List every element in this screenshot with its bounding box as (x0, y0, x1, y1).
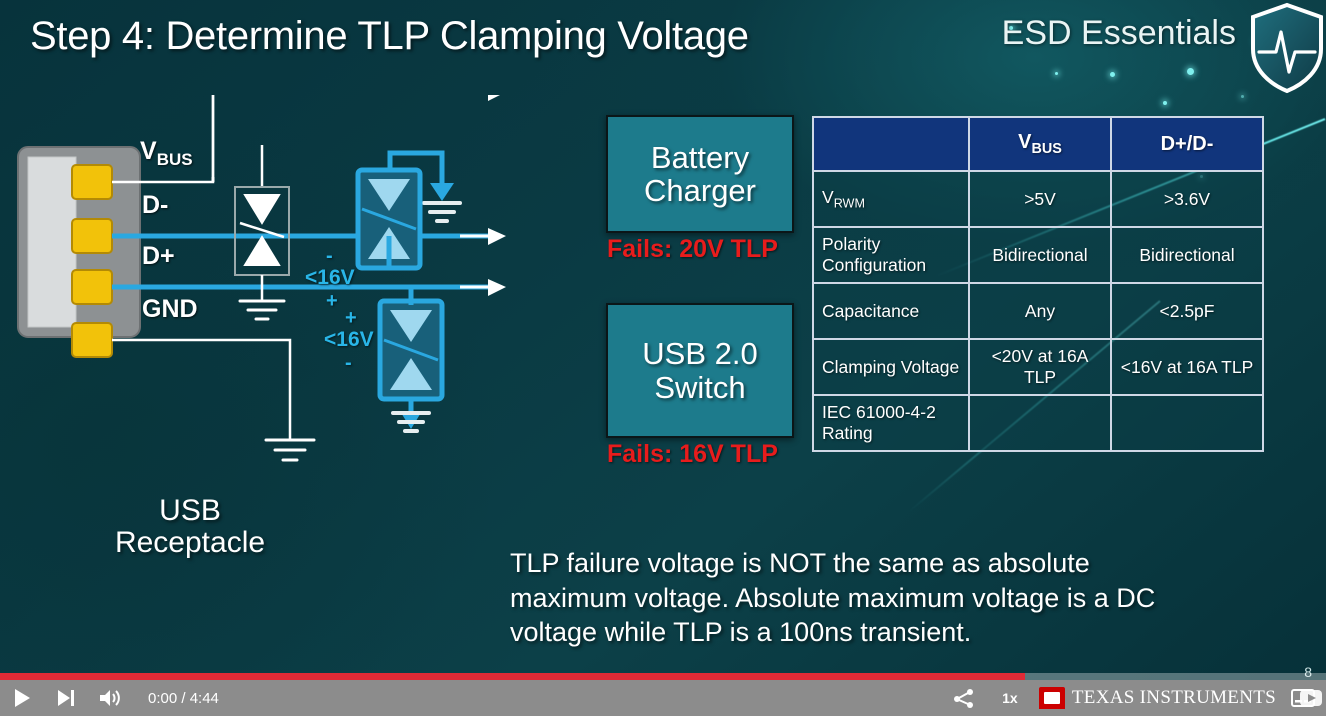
pin-label-dminus: D- (142, 191, 168, 220)
table-col-header-dpdm: D+/D- (1111, 117, 1263, 171)
tvs-diode-grey (235, 145, 289, 319)
tvs-lower-sign-top: + (345, 307, 357, 330)
table-cell-dpdm: <2.5pF (1111, 283, 1263, 339)
background-dot (1187, 68, 1194, 75)
ti-logo: TEXAS INSTRUMENTS (1039, 680, 1276, 716)
table-row: Clamping Voltage <20V at 16A TLP <16V at… (813, 339, 1263, 395)
block-line-1: USB 2.0 (642, 337, 757, 370)
tvs-diode-blue-upper (358, 153, 460, 268)
table-row-header-clamping: Clamping Voltage (813, 339, 969, 395)
table-row-header-polarity: Polarity Configuration (813, 227, 969, 283)
page-title: Step 4: Determine TLP Clamping Voltage (30, 14, 749, 59)
play-icon[interactable] (0, 680, 44, 716)
usb-caption-line-2: Receptacle (95, 527, 285, 559)
table-row: Capacitance Any <2.5pF (813, 283, 1263, 339)
volume-icon[interactable] (88, 680, 132, 716)
background-dot (1110, 72, 1115, 77)
ti-logo-mark (1039, 687, 1065, 709)
background-dot (1163, 101, 1167, 105)
table-col-header-blank (813, 117, 969, 171)
tvs-diode-blue-lower (380, 287, 442, 431)
youtube-watermark-icon[interactable] (1298, 680, 1324, 716)
usb-caption-line-1: USB (95, 495, 285, 527)
block-line-2: Charger (644, 174, 756, 207)
table-row-header-vrwm: VRWM (813, 171, 969, 227)
shield-pulse-icon (1248, 2, 1326, 94)
playback-speed-button[interactable]: 1x (987, 680, 1033, 716)
background-dot (1241, 95, 1244, 98)
tvs-upper-value: <16V (305, 266, 355, 290)
table-cell-vbus: <20V at 16A TLP (969, 339, 1111, 395)
pin-label-dplus: D+ (142, 242, 175, 271)
tvs-upper-sign-bottom: + (326, 290, 338, 313)
table-cell-vbus (969, 395, 1111, 451)
pin-label-vbus: VBUS (140, 137, 193, 170)
share-icon[interactable] (941, 680, 987, 716)
fail-text-battery-charger: Fails: 20V TLP (607, 235, 778, 264)
tvs-lower-value: <16V (324, 328, 374, 352)
block-line-1: Battery (644, 141, 756, 174)
background-dot (1055, 72, 1058, 75)
ti-logo-text: TEXAS INSTRUMENTS (1072, 687, 1276, 709)
table-row: Polarity Configuration Bidirectional Bid… (813, 227, 1263, 283)
brand-label: ESD Essentials (1002, 14, 1236, 53)
video-progress-bar[interactable] (0, 673, 1326, 680)
table-cell-dpdm: >3.6V (1111, 171, 1263, 227)
table-row-header-iec: IEC 61000-4-2 Rating (813, 395, 969, 451)
table-cell-dpdm (1111, 395, 1263, 451)
slide-caption: TLP failure voltage is NOT the same as a… (510, 546, 1210, 650)
table-cell-dpdm: Bidirectional (1111, 227, 1263, 283)
table-row: VRWM >5V >3.6V (813, 171, 1263, 227)
video-control-bar: 0:00 / 4:44 1x TEXAS INSTRUMENTS (0, 680, 1326, 716)
spec-table: VBUS D+/D- VRWM >5V >3.6V Polarity Confi… (812, 116, 1264, 452)
video-time-display: 0:00 / 4:44 (148, 690, 219, 707)
block-line-2: Switch (642, 371, 757, 404)
table-cell-vbus: Bidirectional (969, 227, 1111, 283)
tvs-upper-sign-top: - (326, 245, 333, 268)
next-track-icon[interactable] (44, 680, 88, 716)
fail-text-usb-switch: Fails: 16V TLP (607, 440, 778, 469)
table-row: IEC 61000-4-2 Rating (813, 395, 1263, 451)
tvs-lower-sign-bottom: - (345, 352, 352, 375)
table-header-row: VBUS D+/D- (813, 117, 1263, 171)
table-row-header-capacitance: Capacitance (813, 283, 969, 339)
usb-receptacle-caption: USB Receptacle (95, 495, 285, 560)
table-cell-dpdm: <16V at 16A TLP (1111, 339, 1263, 395)
table-cell-vbus: >5V (969, 171, 1111, 227)
video-progress-played (0, 673, 1025, 680)
slide-viewport: Step 4: Determine TLP Clamping Voltage E… (0, 0, 1326, 716)
table-col-header-vbus: VBUS (969, 117, 1111, 171)
pin-label-gnd: GND (142, 295, 198, 324)
block-battery-charger: Battery Charger (606, 115, 794, 233)
table-cell-vbus: Any (969, 283, 1111, 339)
block-usb-switch: USB 2.0 Switch (606, 303, 794, 438)
